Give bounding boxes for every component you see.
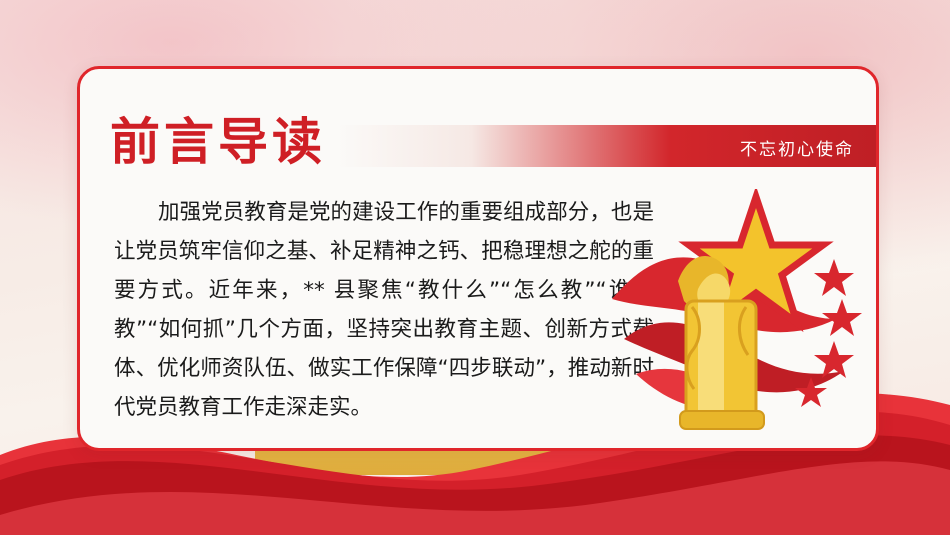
content-card: 前言导读 不忘初心使命 加强党员教育是党的建设工作的重要组成部分，也是让党员筑牢… — [77, 66, 879, 451]
star-small-icon-3 — [814, 341, 854, 378]
body-paragraph: 加强党员教育是党的建设工作的重要组成部分，也是让党员筑牢信仰之基、补足精神之钙、… — [114, 193, 654, 427]
emblem-graphic — [606, 189, 866, 439]
slide-root: 前言导读 不忘初心使命 加强党员教育是党的建设工作的重要组成部分，也是让党员筑牢… — [0, 0, 950, 535]
title-row: 前言导读 不忘初心使命 — [80, 111, 876, 183]
star-small-icon-2 — [822, 299, 862, 336]
banner-text: 不忘初心使命 — [740, 135, 854, 160]
page-title: 前言导读 — [110, 111, 326, 173]
star-small-icon-1 — [814, 259, 854, 296]
